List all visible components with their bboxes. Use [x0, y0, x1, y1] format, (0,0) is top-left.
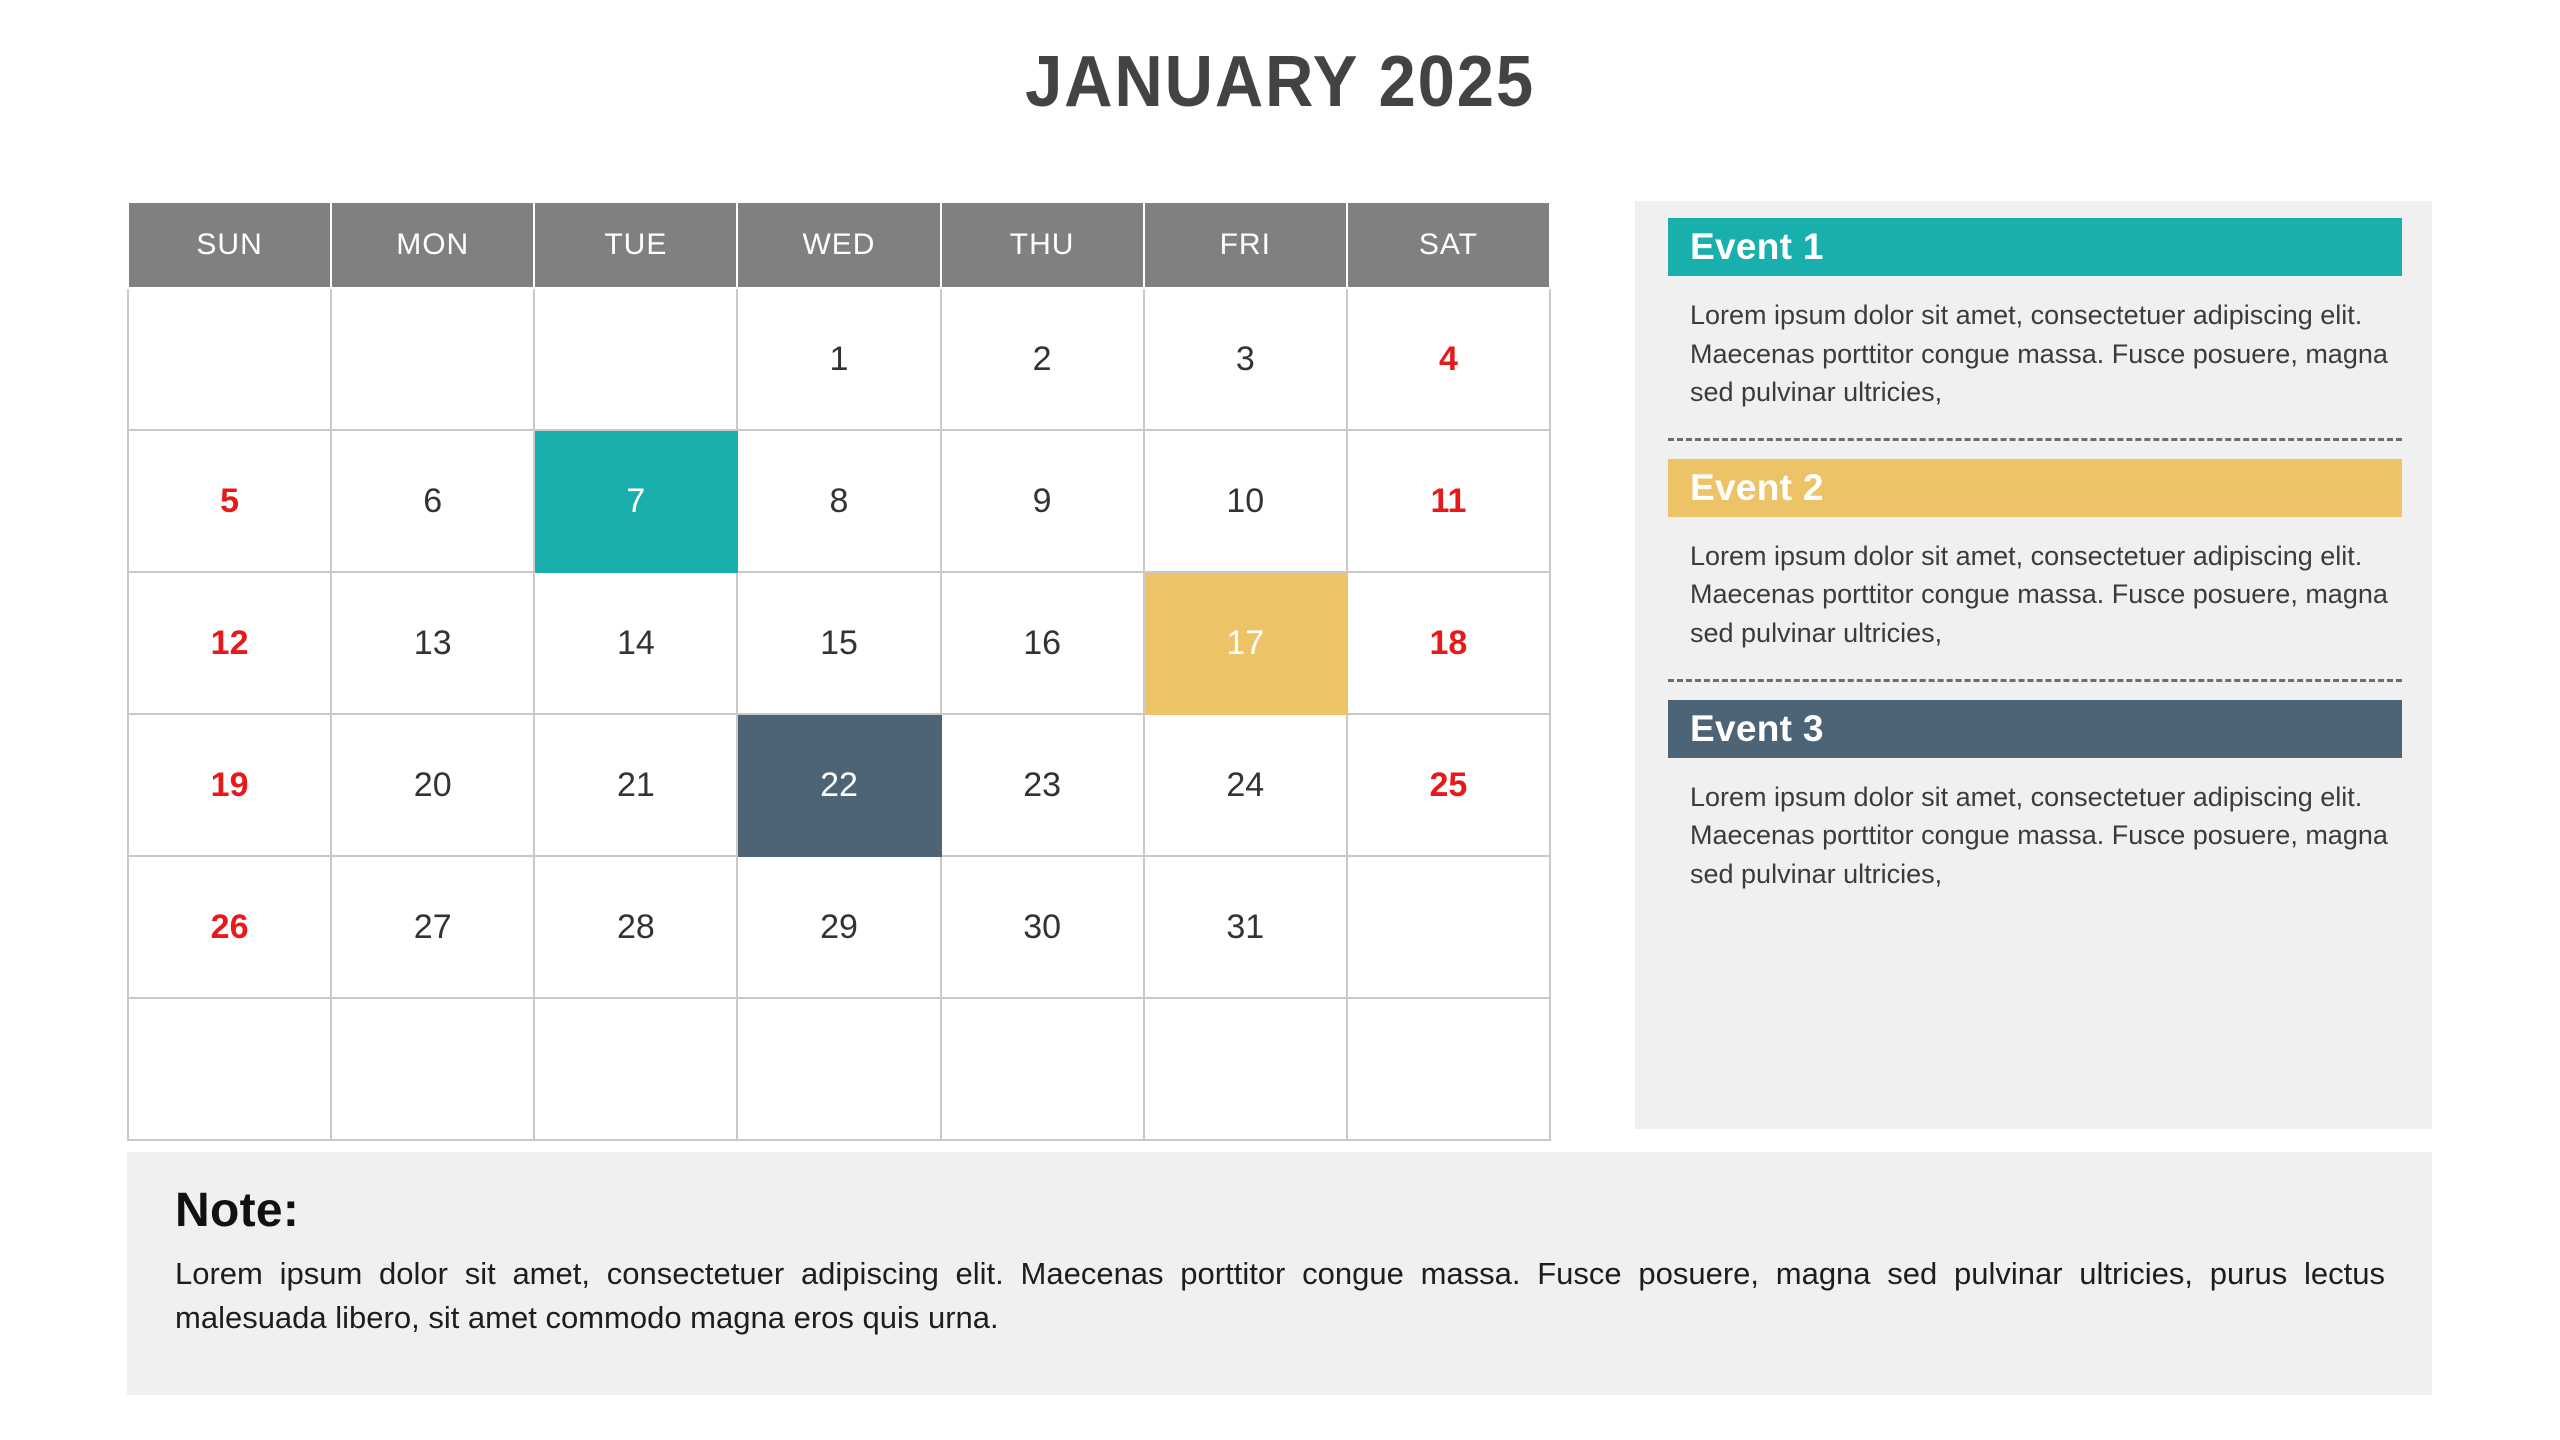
calendar-day-cell-empty: [128, 288, 331, 430]
calendar-day-cell-5[interactable]: 5: [128, 430, 331, 572]
weekday-header-sun: SUN: [128, 202, 331, 288]
calendar-day-cell-7[interactable]: 7: [534, 430, 737, 572]
event-divider: [1668, 679, 2402, 682]
calendar-day-cell-25[interactable]: 25: [1347, 714, 1550, 856]
calendar-day-cell-empty: [534, 288, 737, 430]
calendar-day-cell-17[interactable]: 17: [1144, 572, 1347, 714]
calendar-body: 1234567891011121314151617181920212223242…: [128, 288, 1550, 1140]
calendar-day-cell-empty: [331, 998, 534, 1140]
calendar-day-cell-empty: [1347, 856, 1550, 998]
calendar-day-cell-26[interactable]: 26: [128, 856, 331, 998]
calendar-day-cell-21[interactable]: 21: [534, 714, 737, 856]
calendar-day-cell-18[interactable]: 18: [1347, 572, 1550, 714]
calendar-day-cell-2[interactable]: 2: [941, 288, 1144, 430]
event-body-2: Lorem ipsum dolor sit amet, consectetuer…: [1668, 537, 2400, 653]
weekday-header-mon: MON: [331, 202, 534, 288]
calendar-day-cell-13[interactable]: 13: [331, 572, 534, 714]
calendar-day-cell-10[interactable]: 10: [1144, 430, 1347, 572]
event-body-1: Lorem ipsum dolor sit amet, consectetuer…: [1668, 296, 2400, 412]
calendar-week-row: [128, 998, 1550, 1140]
calendar-day-cell-empty: [737, 998, 940, 1140]
weekday-header-sat: SAT: [1347, 202, 1550, 288]
calendar-week-row: 19202122232425: [128, 714, 1550, 856]
calendar-weekday-header-row: SUNMONTUEWEDTHUFRISAT: [128, 202, 1550, 288]
event-divider: [1668, 438, 2402, 441]
events-panel: Event 1Lorem ipsum dolor sit amet, conse…: [1635, 201, 2432, 1129]
page-title: JANUARY 2025: [90, 46, 2471, 118]
calendar-day-cell-4[interactable]: 4: [1347, 288, 1550, 430]
weekday-header-wed: WED: [737, 202, 940, 288]
calendar-day-cell-24[interactable]: 24: [1144, 714, 1347, 856]
calendar-day-cell-27[interactable]: 27: [331, 856, 534, 998]
calendar-week-row: 262728293031: [128, 856, 1550, 998]
weekday-header-thu: THU: [941, 202, 1144, 288]
calendar-day-cell-empty: [941, 998, 1144, 1140]
calendar-week-row: 1234: [128, 288, 1550, 430]
calendar-day-cell-empty: [1144, 998, 1347, 1140]
event-header-1[interactable]: Event 1: [1668, 218, 2402, 276]
calendar-day-cell-22[interactable]: 22: [737, 714, 940, 856]
weekday-header-fri: FRI: [1144, 202, 1347, 288]
calendar-day-cell-15[interactable]: 15: [737, 572, 940, 714]
calendar-day-cell-6[interactable]: 6: [331, 430, 534, 572]
calendar-day-cell-30[interactable]: 30: [941, 856, 1144, 998]
note-section: Note: Lorem ipsum dolor sit amet, consec…: [127, 1152, 2432, 1395]
calendar-day-cell-19[interactable]: 19: [128, 714, 331, 856]
calendar-day-cell-9[interactable]: 9: [941, 430, 1144, 572]
calendar-week-row: 567891011: [128, 430, 1550, 572]
calendar-week-row: 12131415161718: [128, 572, 1550, 714]
event-body-3: Lorem ipsum dolor sit amet, consectetuer…: [1668, 778, 2400, 894]
calendar-day-cell-8[interactable]: 8: [737, 430, 940, 572]
calendar-day-cell-12[interactable]: 12: [128, 572, 331, 714]
calendar-day-cell-16[interactable]: 16: [941, 572, 1144, 714]
calendar-grid: SUNMONTUEWEDTHUFRISAT 123456789101112131…: [127, 201, 1551, 1141]
calendar-day-cell-empty: [1347, 998, 1550, 1140]
note-body: Lorem ipsum dolor sit amet, consectetuer…: [175, 1252, 2385, 1340]
calendar-day-cell-14[interactable]: 14: [534, 572, 737, 714]
event-header-2[interactable]: Event 2: [1668, 459, 2402, 517]
calendar-day-cell-1[interactable]: 1: [737, 288, 940, 430]
calendar-day-cell-20[interactable]: 20: [331, 714, 534, 856]
event-block-2: Event 2Lorem ipsum dolor sit amet, conse…: [1668, 459, 2402, 653]
event-block-3: Event 3Lorem ipsum dolor sit amet, conse…: [1668, 700, 2402, 894]
calendar-day-cell-empty: [534, 998, 737, 1140]
calendar-day-cell-23[interactable]: 23: [941, 714, 1144, 856]
calendar-day-cell-empty: [128, 998, 331, 1140]
calendar-day-cell-29[interactable]: 29: [737, 856, 940, 998]
calendar-day-cell-empty: [331, 288, 534, 430]
calendar-day-cell-11[interactable]: 11: [1347, 430, 1550, 572]
event-header-3[interactable]: Event 3: [1668, 700, 2402, 758]
event-block-1: Event 1Lorem ipsum dolor sit amet, conse…: [1668, 218, 2402, 412]
calendar-day-cell-28[interactable]: 28: [534, 856, 737, 998]
note-heading: Note:: [175, 1186, 2392, 1236]
calendar-day-cell-3[interactable]: 3: [1144, 288, 1347, 430]
calendar-day-cell-31[interactable]: 31: [1144, 856, 1347, 998]
weekday-header-tue: TUE: [534, 202, 737, 288]
